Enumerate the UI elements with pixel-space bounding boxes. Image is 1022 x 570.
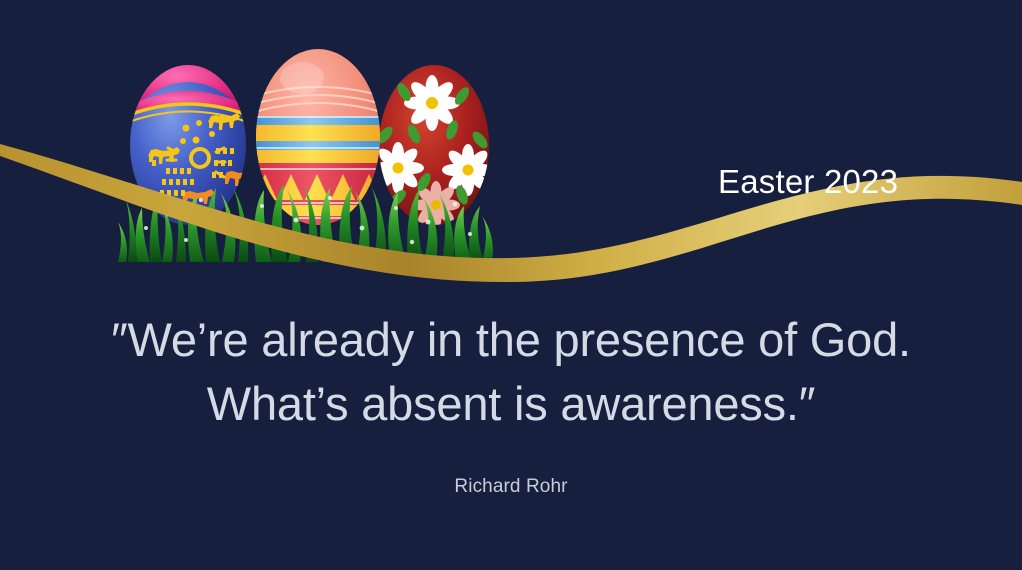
- quote-attribution: Richard Rohr: [0, 476, 1022, 498]
- quote-line-2: What’s absent is awareness.″: [0, 372, 1022, 436]
- easter-year-caption: Easter 2023: [718, 163, 898, 201]
- red-egg-with-daisies: [372, 65, 494, 229]
- striped-egg: [252, 49, 384, 228]
- artwork-region: [0, 0, 1022, 285]
- easter-artwork-svg: [0, 0, 1022, 285]
- quote-line-1: ″We’re already in the presence of God.: [0, 308, 1022, 372]
- easter-quote-slide: Easter 2023 ″We’re already in the presen…: [0, 0, 1022, 570]
- quote-block: ″We’re already in the presence of God. W…: [0, 308, 1022, 436]
